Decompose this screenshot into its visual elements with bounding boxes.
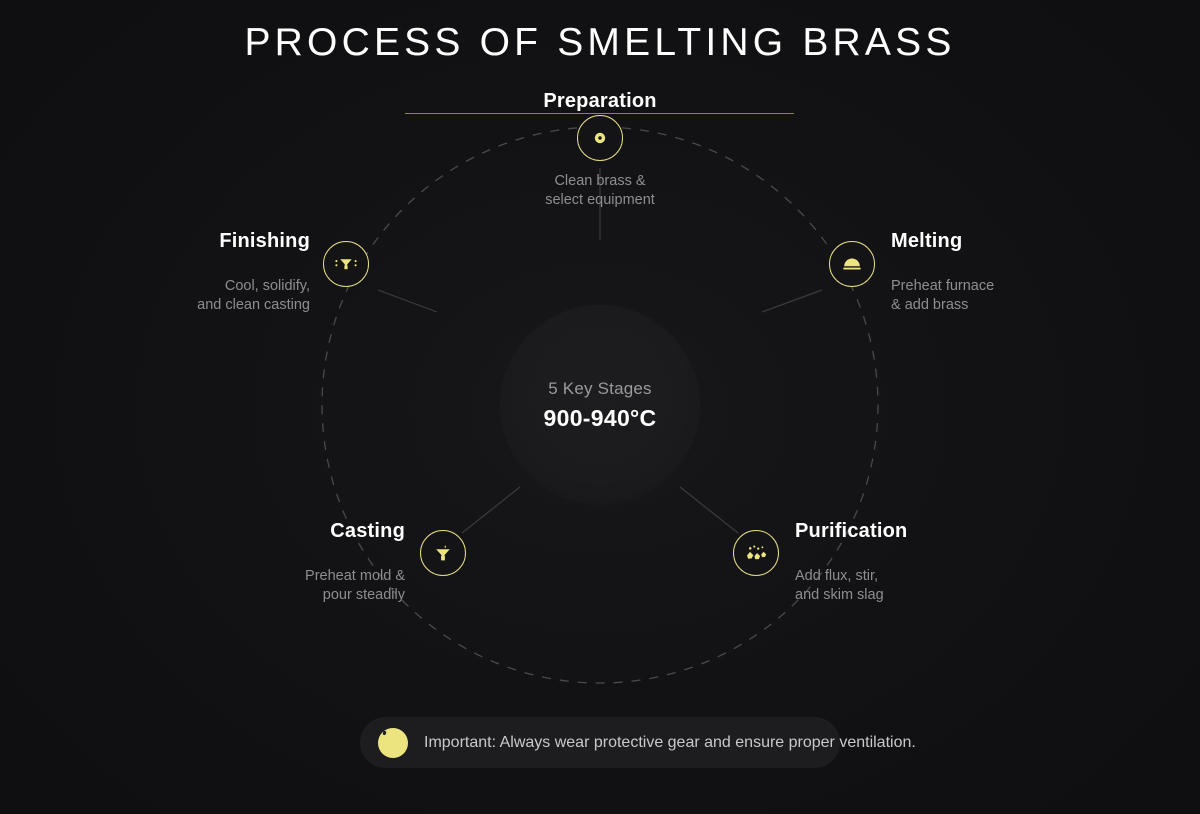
- stage-desc-line1: Clean brass &: [554, 173, 645, 189]
- stage-desc-casting: Preheat mold & pour steadily: [145, 567, 405, 605]
- furnace-dome-icon: [841, 254, 863, 274]
- stage-desc-finishing: Cool, solidify, and clean casting: [50, 277, 310, 315]
- stage-desc-line2: and clean casting: [197, 297, 310, 313]
- stage-desc-line1: Preheat furnace: [891, 278, 994, 294]
- pouring-funnel-icon: [432, 542, 454, 564]
- stage-desc-preparation: Clean brass & select equipment: [440, 172, 760, 210]
- disc-icon: [590, 128, 610, 148]
- hub-label: 5 Key Stages: [548, 377, 652, 401]
- flux-granules-icon: [744, 543, 768, 563]
- stage-desc-line2: select equipment: [545, 192, 655, 208]
- stage-desc-line2: and skim slag: [795, 587, 884, 603]
- stage-desc-line1: Preheat mold &: [305, 568, 405, 584]
- stage-title-purification: Purification: [795, 519, 907, 543]
- warning-dot-icon: [378, 728, 408, 758]
- safety-note-text: Important: Always wear protective gear a…: [424, 732, 916, 754]
- stage-title-melting: Melting: [891, 229, 962, 253]
- polish-funnel-icon: [333, 254, 359, 274]
- stage-desc-line2: & add brass: [891, 297, 968, 313]
- stage-desc-line1: Add flux, stir,: [795, 568, 878, 584]
- stage-badge-finishing[interactable]: [323, 241, 369, 287]
- stage-title-casting: Casting: [165, 519, 405, 543]
- hub-value: 900-940°C: [544, 403, 657, 433]
- stage-title-finishing: Finishing: [70, 229, 310, 253]
- stage-badge-casting[interactable]: [420, 530, 466, 576]
- safety-note: Important: Always wear protective gear a…: [360, 717, 840, 768]
- stage-badge-purification[interactable]: [733, 530, 779, 576]
- stage-desc-melting: Preheat furnace & add brass: [891, 277, 1151, 315]
- stage-badge-melting[interactable]: [829, 241, 875, 287]
- stage-desc-line2: pour steadily: [323, 587, 405, 603]
- stage-desc-line1: Cool, solidify,: [225, 278, 310, 294]
- stage-badge-preparation[interactable]: [577, 115, 623, 161]
- stage-desc-purification: Add flux, stir, and skim slag: [795, 567, 1055, 605]
- center-hub: 5 Key Stages 900-940°C: [500, 305, 700, 505]
- stage-title-preparation: Preparation: [0, 89, 1200, 113]
- infographic-canvas: PROCESS OF SMELTING BRASS 5 Key Stages 9…: [0, 0, 1200, 814]
